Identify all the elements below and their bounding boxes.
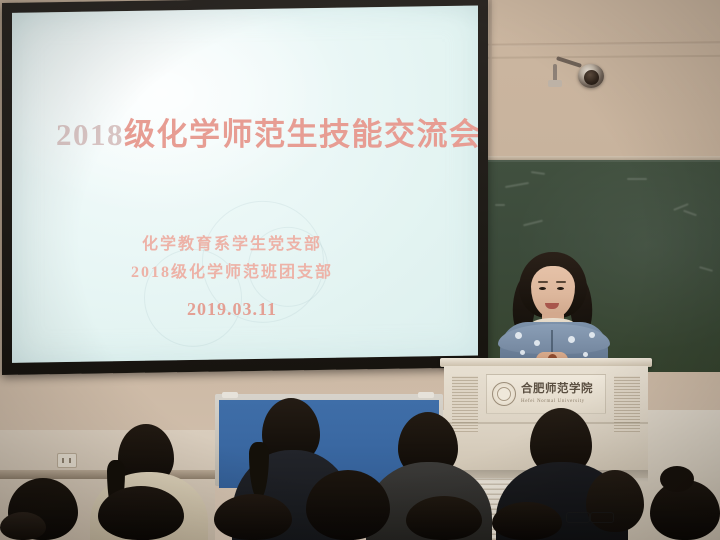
slide-date: 2019.03.11 xyxy=(12,299,452,320)
camera-lens-icon xyxy=(584,70,599,85)
audience-head xyxy=(214,494,292,540)
university-name-cn: 合肥师范学院 xyxy=(521,384,593,396)
slide-subtitle-line1: 化学教育系学生党支部 xyxy=(12,230,452,254)
audience-eyeglasses-icon xyxy=(566,512,590,523)
cardigan-motif xyxy=(568,336,575,343)
university-seal-icon xyxy=(492,382,516,406)
projection-screen-surface: 2018级化学师范生技能交流会 化学教育系学生党支部 2018级化学师范班团支部… xyxy=(12,6,478,363)
chalk-mark xyxy=(683,210,697,217)
cardigan-motif xyxy=(583,352,588,357)
chalk-mark xyxy=(531,171,545,175)
audience-head xyxy=(406,496,482,540)
slide-title: 2018级化学师范生技能交流会 xyxy=(56,109,456,154)
lecture-hall-photo: 2018级化学师范生技能交流会 化学教育系学生党支部 2018级化学师范班团支部… xyxy=(0,0,720,540)
speaker-eyebrow xyxy=(538,281,548,283)
chalk-mark xyxy=(495,204,505,206)
speaker-eye xyxy=(539,287,546,290)
audience-hair-bun xyxy=(660,466,694,492)
camera-mount-plate-icon xyxy=(548,80,562,87)
slide-title-year: 2018 xyxy=(56,117,124,152)
bulletin-board-clip xyxy=(222,392,238,398)
chalk-mark xyxy=(523,220,543,227)
slide-subtitle-line2: 2018级化学师范班团支部 xyxy=(12,258,452,282)
chalk-mark xyxy=(627,178,647,180)
cardigan-motif xyxy=(520,350,525,355)
chalk-mark xyxy=(699,266,713,272)
university-name-en: Hefei Normal University xyxy=(521,399,593,404)
cardigan-motif xyxy=(534,340,540,346)
chalk-mark xyxy=(505,182,529,188)
wall-seam xyxy=(489,0,492,170)
cardigan-motif xyxy=(589,332,595,338)
projection-screen-frame: 2018级化学师范生技能交流会 化学教育系学生党支部 2018级化学师范班团支部… xyxy=(2,0,488,375)
speaker-shoulder-cape xyxy=(498,324,610,354)
bulletin-board-clip xyxy=(418,392,434,398)
audience-head xyxy=(306,470,390,540)
wall-outlet-icon xyxy=(57,453,77,468)
audience-head xyxy=(492,502,562,540)
cardigan-motif xyxy=(515,332,522,339)
audience-head xyxy=(0,512,46,540)
speaker-eye xyxy=(557,287,564,290)
university-name-plaque: 合肥师范学院 Hefei Normal University xyxy=(486,374,606,414)
slide-title-text: 级化学师范生技能交流会 xyxy=(124,117,478,152)
audience-eyeglasses-icon xyxy=(590,512,614,523)
speaker-eyebrow xyxy=(556,281,566,283)
audience-head xyxy=(98,486,184,540)
